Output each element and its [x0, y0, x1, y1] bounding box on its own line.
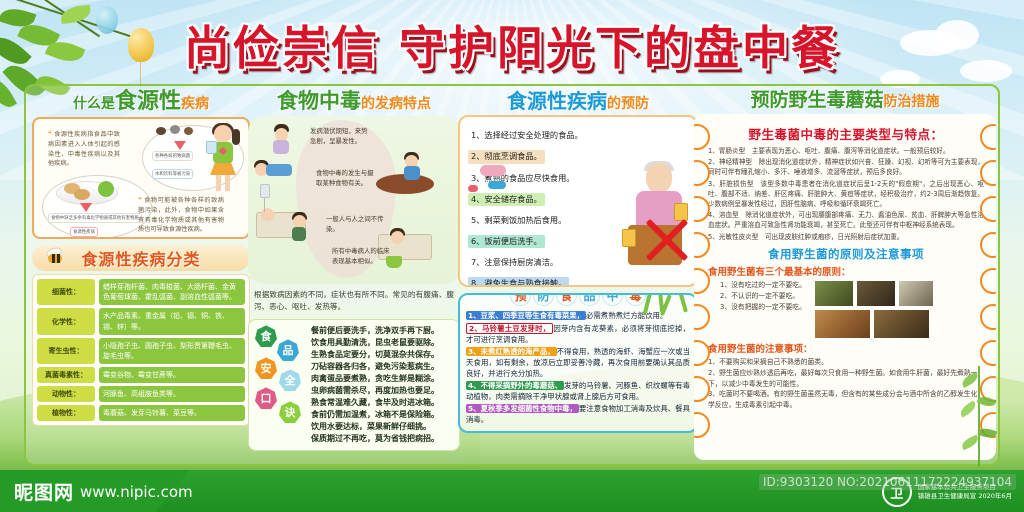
- prevention-list-box: 1、选择经过安全处理的食品。 2、彻底烹调食品。 3、煮熟的食品应尽快食用。 4…: [458, 115, 698, 287]
- mushroom-paragraph: 1、胃肠炎型 主要表现为恶心、呕吐、腹痛、腹泻等消化道症状。一般预后较好。: [708, 146, 984, 156]
- slogan-line: 饮食用具勤清洗，昆虫老鼠要驱除。: [311, 337, 454, 349]
- brand-name-cn: 昵图网: [14, 478, 74, 505]
- fp-title-char: 防: [533, 293, 554, 306]
- arrow-down-icon: [80, 203, 92, 212]
- mushroom-head-1: 食用野生菌有三个最基本的原则：: [708, 264, 984, 278]
- col4-title-main: 预防野生毒蘑菇: [750, 89, 883, 111]
- class-key: 动物性：: [37, 386, 95, 402]
- agency-line-2: 镇雄县卫生健康局宣 2020年6月: [918, 492, 1012, 501]
- col2-title-suffix: 的发病特点: [361, 96, 431, 112]
- slogan-line: 刀砧容器各归各，避免污染惹病生。: [311, 361, 454, 373]
- col2-note-2: 食物中毒的发生与摄取某种食物有关。: [316, 168, 378, 189]
- diagram-label-2: 水和饮料等被污染: [152, 169, 193, 179]
- food-safety-slogan-box: 食 品 安 全 口 诀 餐前便后要洗手，洗净双手再下厨。 饮食用具勤清洗，昆虫老…: [248, 319, 460, 451]
- col1-paragraph-1: ❝ 食源性疾病指食品中致病因素进入人体引起的感染性、中毒性疾病以及其他疾病。: [48, 129, 120, 169]
- col2-title: 食物中毒的发病特点: [248, 90, 460, 113]
- heptagon-1: 食: [255, 325, 277, 347]
- col3-title-suffix: 的预防: [607, 96, 649, 112]
- mushroom-photo: [814, 309, 871, 339]
- watermark-id: ID:9303120 NO:20210611172224937104: [759, 474, 1016, 490]
- col2-illustration-panel: 发病潜伏期短，来势急剧，呈暴发性。 食物中毒的发生与摄取某种食物有关。 一般人与…: [248, 116, 460, 284]
- fp-title-char: 中: [602, 293, 623, 306]
- mushroom-paragraph: 5、光敏性皮炎型 可出现皮肤红肿或疱疹，日光照射后症状加重。: [708, 232, 984, 242]
- class-value: 蜡样芽孢杆菌、肉毒梭菌、大肠杆菌、金黄色葡萄球菌、霍乱弧菌、副溶血性弧菌等。: [99, 279, 245, 305]
- prevention-item: 8、避免生食与熟食接触。: [468, 277, 569, 288]
- class-key: 真菌毒素性：: [37, 367, 95, 383]
- mushroom-rule: 3、没有把握的一定不要吃。: [720, 302, 806, 313]
- class-value: 小隐孢子虫、圆孢子虫、梨形贾第鞭毛虫、旋毛虫等。: [99, 338, 245, 364]
- mushroom-paragraph: 3、肝脏损伤型 该型多数中毒患者在消化道症状后呈1-2天的"假愈期"，之后出现恶…: [708, 179, 984, 210]
- mushroom-box-title: 野生毒菌中毒的主要类型与特点：: [708, 124, 984, 143]
- class-value: 河豚鱼、高组胺鱼类等。: [99, 386, 245, 402]
- class-value: 水产品毒素、重金属（铅、镉、铜、铁、锡、锌）等。: [99, 308, 245, 334]
- content-board: 什么是食源性疾病 食物中缺乏多余有毒化学物质或其他有害物质 食源性疾病 各种各样…: [24, 84, 1000, 466]
- col1-paragraph-2: ❝ 食物可能被各种各样的致病菌污染，此外，食物中如果含有有毒化学物质或其他有害物…: [138, 195, 224, 235]
- table-row: 真菌毒素性： 霉变谷物、霉变甘蔗等。: [37, 367, 245, 383]
- arrow-down-icon: [174, 141, 186, 150]
- col1-title-suffix: 疾病: [181, 96, 209, 112]
- brand-url[interactable]: www.nipic.com: [80, 483, 193, 501]
- mushroom-rule: 2、不认识的一定不要吃。: [720, 291, 806, 302]
- brand-block: 昵图网 www.nipic.com: [14, 478, 193, 505]
- mushroom-head-2: 食用野生菌的注意事项：: [708, 341, 984, 355]
- prevention-item: 5、剩菜剩饭加热后食用。: [468, 214, 569, 227]
- mushroom-note: 1、不要购买和采摘自己不熟悉的菌类。: [708, 357, 984, 368]
- fp-item: 3、未煮红熟透的海产品，不得食用，熟透的海虾、海蟹应一次或当天食用，如有剩余，放…: [466, 346, 690, 379]
- col1-illustration-panel: 食物中缺乏多余有毒化学物质或其他有害物质 食源性疾病 各种各样的致病菌 水和饮料…: [32, 117, 250, 239]
- vine-decoration: [950, 366, 1010, 466]
- class-key: 寄生虫性：: [37, 338, 95, 364]
- classification-title: 食源性疾病分类: [81, 246, 200, 270]
- fp-title-char: 食: [556, 293, 577, 306]
- mushroom-photo: [873, 309, 930, 339]
- prevention-item: 2、彻底烹调食品。: [468, 150, 545, 163]
- footer-bar: 昵图网 www.nipic.com 卫 国家基本公共卫生服务项目 镇雄县卫生健康…: [0, 470, 1024, 512]
- slogan-line: 肉禽蛋品要煮熟，贪吃生鲜是糊涂。: [311, 373, 454, 385]
- column-prevention: 食源性疾病的预防 1、选择经过安全处理的食品。 2、彻底烹调食品。 3、煮熟的食…: [458, 86, 698, 433]
- slogan-line: 食前仍需加温煮，冰箱不是保险箱。: [311, 409, 454, 421]
- slogan-line: 饮用水要达标，菜果新鲜仔细挑。: [311, 421, 454, 433]
- slogan-lines: 餐前便后要洗手，洗净双手再下厨。 饮食用具勤清洗，昆虫老鼠要驱除。 生熟食品定要…: [311, 325, 454, 445]
- fp-item: 4、不得采摘野外的毒蘑菇、发芽的马铃薯、河豚鱼、织纹螺等有毒动植物，肉类需摘除干…: [466, 380, 690, 402]
- mushroom-note: 2、野生菌应炒熟炒透后再吃，最好每次只食用一种野生菌。如食用牛肝菌，最好先煮熟一…: [708, 368, 984, 390]
- mushroom-paragraph: 4、溶血型 除消化道症状外，可出现腰腹部疼痛、无力、酱油色尿、贫血、肝脾肿大等急…: [708, 210, 984, 230]
- girl-drinking-illustration: [204, 123, 244, 193]
- slogan-line: 餐前便后要洗手，洗净双手再下厨。: [311, 325, 454, 337]
- col3-title-main: 食源性疾病: [507, 89, 607, 113]
- slogan-line: 熟食常温难久藏，食毕及时进冰箱。: [311, 397, 454, 409]
- classification-table: 细菌性： 蜡样芽孢杆菌、肉毒梭菌、大肠杆菌、金黄色葡萄球菌、霍乱弧菌、副溶血性弧…: [32, 274, 250, 426]
- poster-header: 尚俭崇信 守护阳光下的盘中餐: [0, 8, 1024, 80]
- heptagon-2: 品: [277, 339, 299, 361]
- slogan-line: 保质期过不再吃，莫为省钱把病招。: [311, 433, 454, 445]
- mushroom-sub-title: 食用野生菌的原则及注意事项: [708, 246, 984, 262]
- heptagon-5: 口: [255, 387, 277, 409]
- heptagon-6: 诀: [279, 401, 301, 423]
- table-row: 化学性： 水产品毒素、重金属（铅、镉、铜、铁、锡、锌）等。: [37, 308, 245, 334]
- col1-title: 什么是食源性疾病: [32, 90, 250, 114]
- class-key: 植物性：: [37, 405, 95, 421]
- fp-title-char: 品: [579, 293, 600, 306]
- page-title: 尚俭崇信 守护阳光下的盘中餐: [0, 12, 1024, 78]
- mushroom-note: 3、吃菌时不要喝酒。有的野生菌虽然无毒，但含有的某些成分会与酒中所含的乙醇发生化…: [708, 389, 984, 411]
- mushroom-photo: [856, 280, 896, 307]
- classification-header: 食源性疾病分类: [32, 245, 250, 271]
- class-key: 化学性：: [37, 308, 95, 334]
- poster-root: 尚俭崇信 守护阳光下的盘中餐 什么是食源性疾病 食物中缺乏多余有毒化学物质或其他…: [0, 0, 1024, 512]
- table-row: 动物性： 河豚鱼、高组胺鱼类等。: [37, 386, 245, 402]
- iv-bag-icon: [260, 184, 270, 198]
- col2-note-1: 发病潜伏期短，来势急剧，呈暴发性。: [310, 126, 372, 147]
- col4-title: 预防野生毒蘑菇防治措施: [694, 90, 996, 111]
- table-row: 寄生虫性： 小隐孢子虫、圆孢子虫、梨形贾第鞭毛虫、旋毛虫等。: [37, 338, 245, 364]
- mushroom-photo: [814, 280, 854, 307]
- col2-note-3: 一般人与人之间不传染。: [326, 214, 388, 235]
- pills-illustration: [462, 163, 516, 207]
- col1-title-main: 食源性: [115, 89, 181, 114]
- bee-icon: [42, 247, 66, 267]
- col1-title-prefix: 什么是: [73, 96, 115, 112]
- heptagon-4: 全: [279, 369, 301, 391]
- class-key: 细菌性：: [37, 279, 95, 305]
- green-beans-icon: [638, 293, 694, 331]
- fp-title-char: 预: [510, 293, 531, 306]
- prevention-item: 6、饭前便后洗手。: [468, 235, 545, 248]
- col4-title-suffix: 防治措施: [884, 94, 940, 110]
- table-row: 植物性： 毒蘑菇、发芽马铃薯、菜豆等。: [37, 405, 245, 421]
- diagram-label-1: 各种各样的致病菌: [152, 151, 193, 161]
- prevention-item: 1、选择经过安全处理的食品。: [468, 129, 586, 142]
- mushroom-rule: 1、没有吃过的一定不要吃。: [720, 280, 806, 291]
- col2-summary: 根据致病因素的不同，症状也有所不同。常见的有腹痛、腹泻、恶心、呕吐、发热等。: [248, 284, 460, 315]
- heptagon-3: 安: [255, 357, 277, 379]
- food-poison-prevention-box: 预 防 食 品 中 毒 1、豆浆、四季豆等生食有毒菜果，必需煮熟煮烂方能饮用。 …: [458, 293, 698, 433]
- mushroom-paragraph: 2、神经精神型 除出现消化道症状外，精神症状如兴奋、狂躁、幻视、幻听等可为主要表…: [708, 157, 984, 177]
- class-value: 霉变谷物、霉变甘蔗等。: [99, 367, 245, 383]
- diagram-label-4: 食源性疾病: [70, 227, 98, 237]
- column-food-poisoning-features: 食物中毒的发病特点: [248, 86, 460, 451]
- heptagon-group: 食 品 安 全 口 诀: [253, 325, 311, 429]
- prevention-item: 7、注意保持厨房清洁。: [468, 256, 561, 269]
- forbidden-x-icon: [640, 213, 694, 267]
- fp-item: 5、夏秋季多发细菌性食物中毒，要注意食物加工消毒及炊具、餐具消毒。: [466, 403, 690, 425]
- slogan-line: 生熟食品定要分，切莫混杂共保存。: [311, 349, 454, 361]
- col2-title-main: 食物中毒: [277, 89, 361, 113]
- diagram-label-3: 食物中缺乏多余有毒化学物质或其他有害物质: [48, 213, 142, 223]
- mushroom-photo: [898, 280, 934, 307]
- table-row: 细菌性： 蜡样芽孢杆菌、肉毒梭菌、大肠杆菌、金黄色葡萄球菌、霍乱弧菌、副溶血性弧…: [37, 279, 245, 305]
- col2-note-4: 所有中毒病人的临床表现基本相似。: [332, 246, 394, 267]
- class-value: 毒蘑菇、发芽马铃薯、菜豆等。: [99, 405, 245, 421]
- slogan-line: 虫卵病菌需杀尽，再度加热也要足。: [311, 385, 454, 397]
- column-foodborne-disease: 什么是食源性疾病 食物中缺乏多余有毒化学物质或其他有害物质 食源性疾病 各种各样…: [32, 86, 250, 426]
- col3-title: 食源性疾病的预防: [458, 90, 698, 112]
